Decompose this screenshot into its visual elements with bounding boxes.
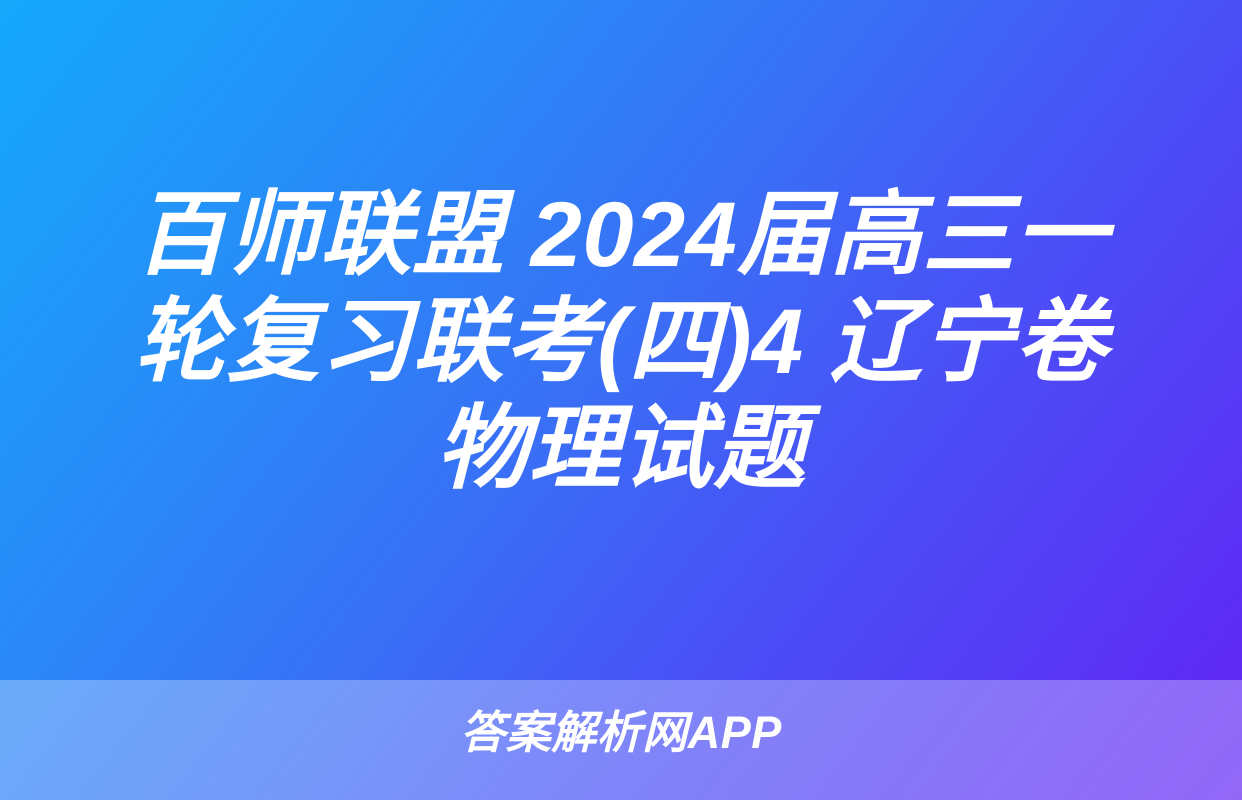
app-watermark: 答案解析网APP [0, 705, 1242, 760]
exam-title-line-3: 物理试题 [34, 396, 1208, 503]
exam-title-line-1: 百师联盟 2024届高三一 [34, 182, 1208, 289]
exam-title-block: 百师联盟 2024届高三一 轮复习联考(四)4 辽宁卷 物理试题 [0, 182, 1242, 503]
exam-title-line-2: 轮复习联考(四)4 辽宁卷 [34, 289, 1208, 396]
poster-canvas: 百师联盟 2024届高三一 轮复习联考(四)4 辽宁卷 物理试题 答案解析网AP… [0, 0, 1242, 800]
